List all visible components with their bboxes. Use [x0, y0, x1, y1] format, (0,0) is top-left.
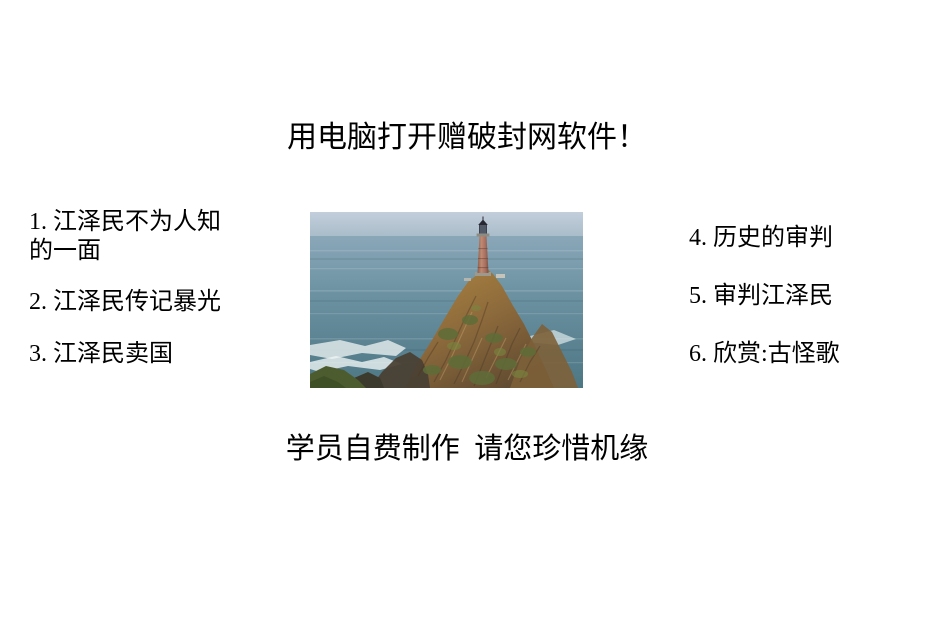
list-item[interactable]: 6. 欣赏:古怪歌: [689, 340, 919, 369]
list-item[interactable]: 4. 历史的审判: [689, 224, 919, 253]
lighthouse-photo: [310, 212, 583, 388]
page-title: 用电脑打开赠破封网软件！: [0, 120, 934, 156]
list-item[interactable]: 1. 江泽民不为人知的一面: [29, 208, 239, 266]
list-item[interactable]: 3. 江泽民卖国: [29, 340, 239, 369]
list-item[interactable]: 2. 江泽民传记暴光: [29, 288, 239, 317]
lighthouse-photo-illustration: [310, 212, 583, 388]
right-link-list: 4. 历史的审判 5. 审判江泽民 6. 欣赏:古怪歌: [689, 224, 919, 398]
list-item[interactable]: 5. 审判江泽民: [689, 282, 919, 311]
left-link-list: 1. 江泽民不为人知的一面 2. 江泽民传记暴光 3. 江泽民卖国: [29, 208, 239, 369]
slide-canvas: 用电脑打开赠破封网软件！ 1. 江泽民不为人知的一面 2. 江泽民传记暴光 3.…: [0, 0, 934, 624]
footer-text: 学员自费制作 请您珍惜机缘: [0, 432, 934, 467]
